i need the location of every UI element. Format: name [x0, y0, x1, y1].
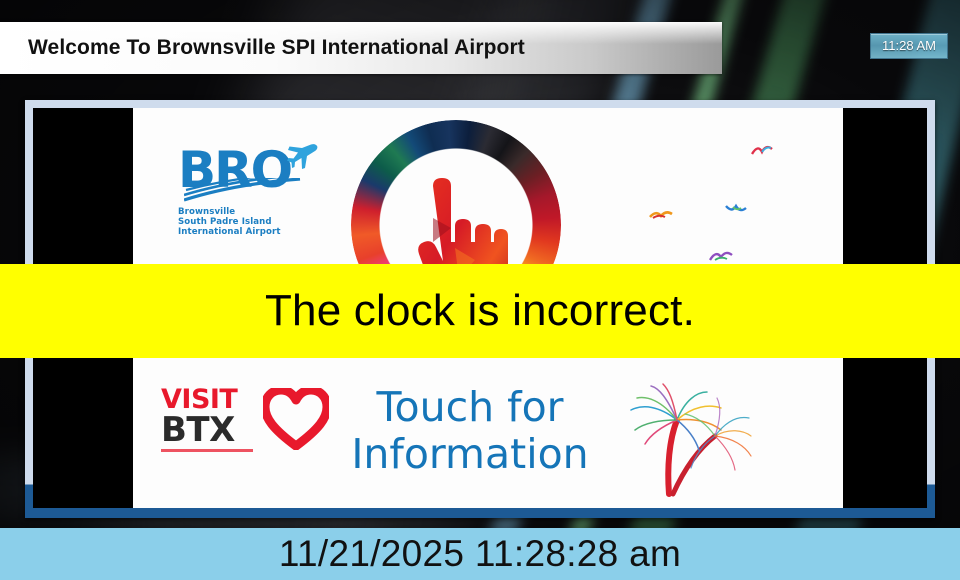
heart-icon: [263, 388, 329, 450]
bro-subtitle-line1: Brownsville: [178, 207, 358, 217]
touch-info-line2: Information: [325, 431, 615, 478]
bro-wordmark-text: BRO: [178, 141, 291, 199]
airplane-icon: [286, 142, 320, 172]
visit-btx-logo: VISIT BTX: [161, 386, 333, 452]
datetime-bar: 11/21/2025 11:28:28 am: [0, 528, 960, 580]
bro-logo-subtitle: Brownsville South Padre Island Internati…: [178, 207, 358, 238]
visit-btx-underline: [161, 449, 253, 452]
touch-for-information-label: Touch for Information: [325, 384, 615, 478]
window-titlebar: Welcome To Brownsville SPI International…: [0, 22, 722, 74]
bird-icon: [725, 200, 747, 216]
bird-icon: [751, 144, 773, 160]
clock-badge[interactable]: 11:28 AM: [870, 33, 948, 59]
bro-subtitle-line3: International Airport: [178, 227, 358, 237]
bro-wordmark: BRO: [178, 144, 358, 204]
visit-btx-btx-text: BTX: [161, 413, 253, 447]
visit-btx-visit-text: VISIT: [161, 386, 253, 413]
bro-subtitle-line2: South Padre Island: [178, 217, 358, 227]
visit-btx-wordmark: VISIT BTX: [161, 386, 253, 452]
touch-info-line1: Touch for: [325, 384, 615, 431]
page-title: Welcome To Brownsville SPI International…: [28, 36, 525, 60]
palm-tree-icon: [611, 376, 761, 506]
alert-banner[interactable]: The clock is incorrect.: [0, 264, 960, 358]
alert-message: The clock is incorrect.: [265, 287, 695, 335]
bird-icon: [649, 208, 673, 224]
datetime-text: 11/21/2025 11:28:28 am: [279, 534, 681, 574]
bro-logo: BRO Brownsville South Padre Island Inter…: [178, 144, 358, 238]
